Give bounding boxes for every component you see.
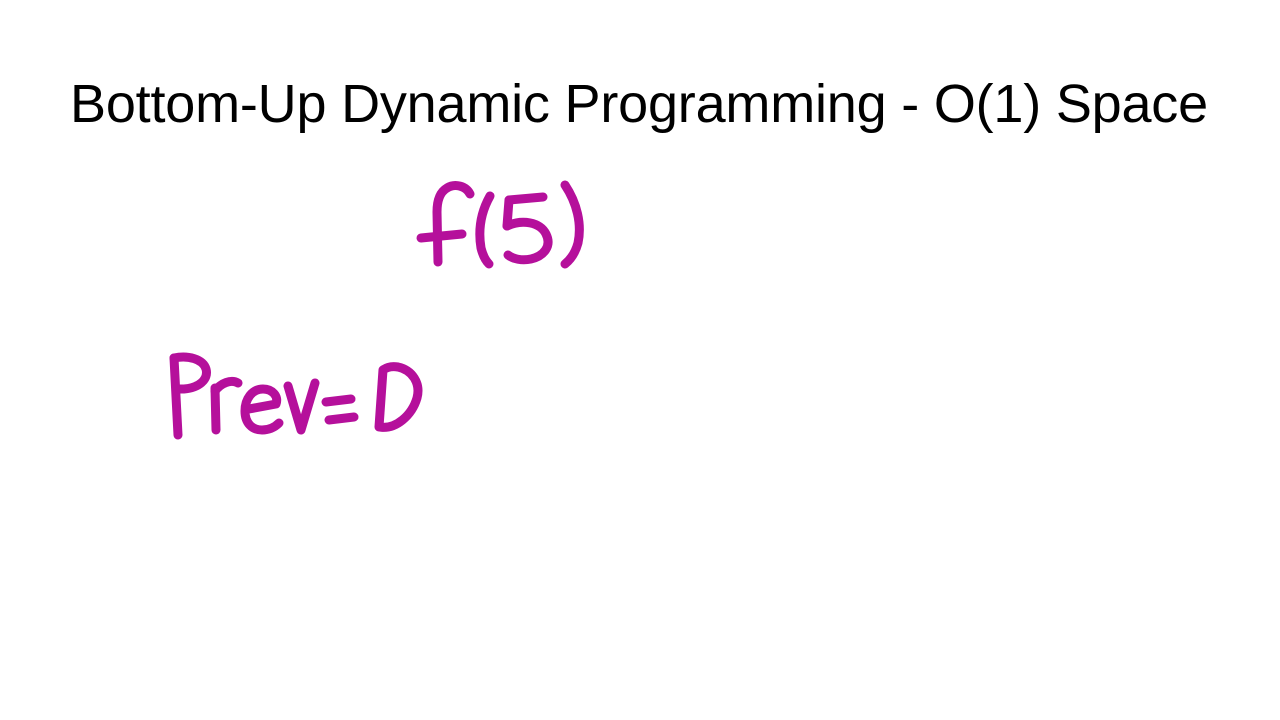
ink-stroke-p-stem	[174, 358, 178, 435]
ink-stroke-open-paren	[480, 196, 490, 264]
whiteboard-canvas: Bottom-Up Dynamic Programming - O(1) Spa…	[0, 0, 1280, 720]
ink-stroke-five-bowl	[507, 222, 548, 260]
ink-stroke-r-shoulder	[215, 381, 238, 391]
handwriting-f-of-5: f(5)	[421, 185, 579, 264]
ink-stroke-v	[288, 383, 315, 430]
ink-stroke-close-paren	[565, 185, 579, 264]
ink-stroke-f-crossbar	[421, 234, 462, 238]
page-title: Bottom-Up Dynamic Programming - O(1) Spa…	[70, 72, 1210, 136]
ink-stroke-equals-upper	[326, 399, 351, 402]
ink-stroke-f-stem	[437, 186, 470, 262]
ink-stroke-e	[245, 389, 279, 430]
handwriting-prev-equals-zero: Prev = 0	[174, 357, 418, 435]
ink-stroke-five-top	[509, 197, 543, 200]
ink-stroke-zero	[379, 367, 418, 428]
ink-stroke-equals-lower	[329, 417, 354, 420]
